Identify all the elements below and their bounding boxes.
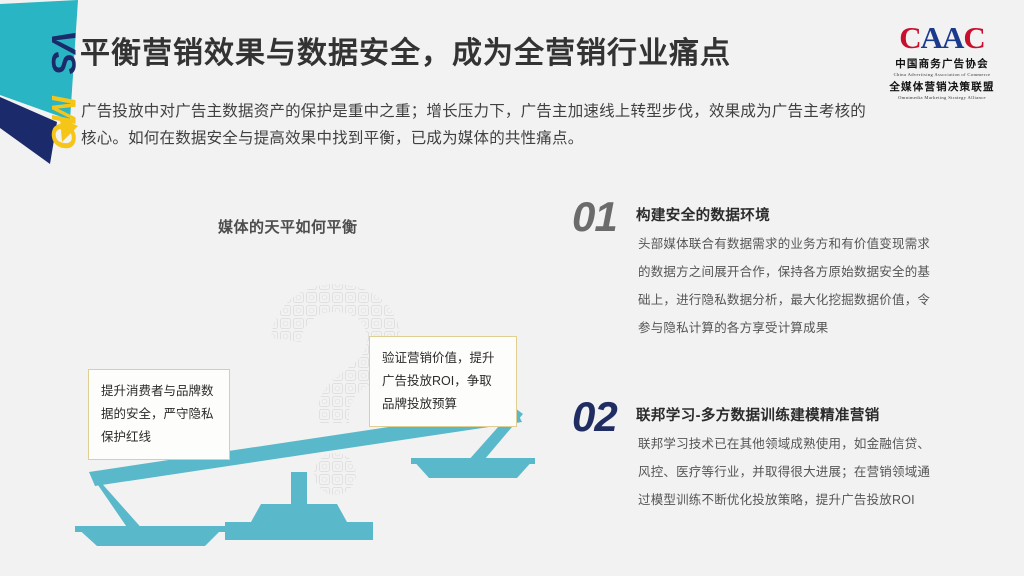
illustration-heading: 媒体的天平如何平衡 [218,216,358,237]
svg-text:VS: VS [44,30,82,75]
caac-wordmark: CAAC [878,22,1006,53]
caac-logo: CAAC 中国商务广告协会 China Advertising Associat… [878,22,1006,100]
caac-letter-3: A [942,20,963,55]
caac-letter-4: C [963,20,984,55]
section-01-body: 头部媒体联合有数据需求的业务方和有价值变现需求的数据方之间展开合作，保持各方原始… [638,230,938,343]
caac-en-line-2: Omnimedia Marketing Strategy Alliance [878,95,1006,100]
section-01-number: 01 [572,196,617,238]
slide-canvas: VS MO CAAC 中国商务广告协会 China Advertising As… [0,0,1024,576]
caac-letter-2: A [921,20,942,55]
callout-right: 验证营销价值，提升广告投放ROI，争取品牌投放预算 [369,336,517,427]
section-02-heading: 联邦学习-多方数据训练建模精准营销 [636,404,880,425]
page-title: 平衡营销效果与数据安全，成为全营销行业痛点 [80,36,731,72]
caac-cn-line-2: 全媒体营销决策联盟 [878,79,1006,94]
section-02-body: 联邦学习技术已在其他领域成熟使用，如金融信贷、风控、医疗等行业，并取得很大进展；… [638,430,938,514]
caac-en-line-1: China Advertising Association of Commerc… [878,72,1006,77]
callout-left: 提升消费者与品牌数据的安全，严守隐私保护红线 [88,369,230,460]
section-01-heading: 构建安全的数据环境 [636,204,770,225]
section-02-number: 02 [572,396,617,438]
caac-cn-line-1: 中国商务广告协会 [878,56,1006,71]
page-subtitle: 广告投放中对广告主数据资产的保护是重中之重；增长压力下，广告主加速线上转型步伐，… [81,98,881,152]
caac-letter-1: C [899,20,920,55]
